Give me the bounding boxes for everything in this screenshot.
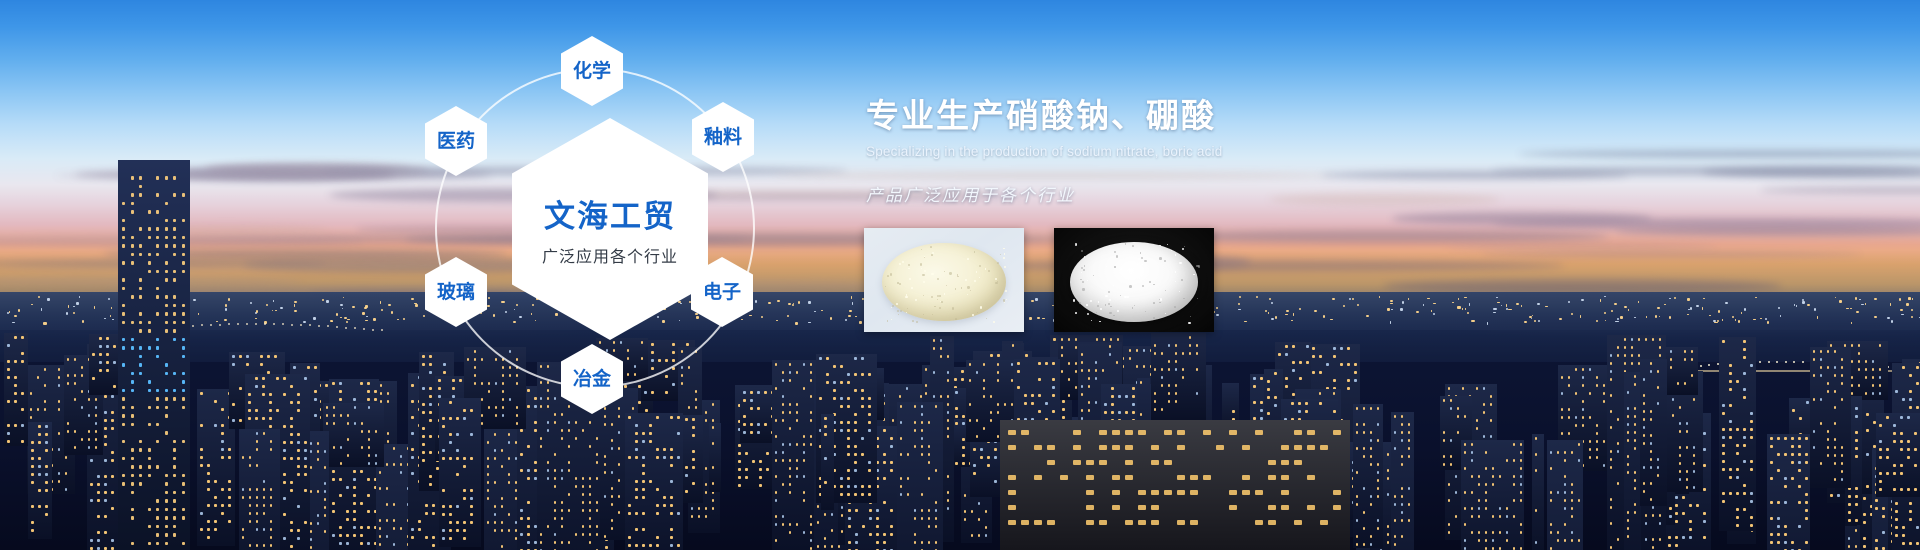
hex-node-label: 医药 [437, 132, 475, 151]
product-photo-row [864, 228, 1214, 332]
hex-node-label: 电子 [703, 283, 741, 302]
product-photo-boric-acid[interactable] [1054, 228, 1214, 332]
hex-node-label: 冶金 [573, 370, 611, 389]
hex-node-label: 釉料 [704, 128, 742, 147]
hex-node-label: 化学 [573, 62, 611, 81]
product-photo-sodium-nitrate[interactable] [864, 228, 1024, 332]
powder-pile [1070, 242, 1198, 322]
company-tagline: 广泛应用各个行业 [542, 243, 678, 267]
hex-node-label: 玻璃 [437, 283, 475, 302]
headline-block: 专业生产硝酸钠、硼酸 Specializing in the productio… [866, 95, 1486, 206]
industry-hex-diagram: 化学 釉料 电子 冶金 玻璃 医药 文海工贸 广泛应用各个行业 [400, 20, 820, 440]
headline-subtitle-english: Specializing in the production of sodium… [866, 144, 1486, 159]
company-name: 文海工贸 [544, 191, 676, 236]
powder-pile [882, 243, 1006, 321]
headline-tagline: 产品广泛应用于各个行业 [866, 181, 1486, 206]
headline-text: 专业生产硝酸钠、硼酸 [866, 95, 1486, 136]
promo-banner: 化学 釉料 电子 冶金 玻璃 医药 文海工贸 广泛应用各个行业 专业生产硝酸钠、… [0, 0, 1920, 550]
